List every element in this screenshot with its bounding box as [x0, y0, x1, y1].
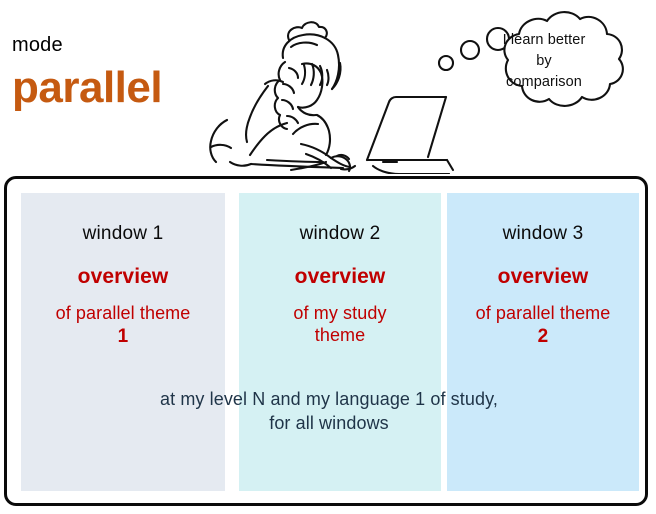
windows-container: window 1 overview of parallel theme 1 wi… — [4, 176, 648, 506]
thought-bubble-line-3: comparison — [436, 72, 652, 93]
window-panel-3[interactable]: window 3 overview of parallel theme 2 — [447, 193, 639, 491]
window-3-overview-subtitle: of parallel theme 2 — [447, 303, 639, 348]
thought-bubble-line-1: I learn better — [436, 30, 652, 51]
window-2-label: window 2 — [239, 223, 441, 245]
window-2-subtitle-text: of my study — [293, 303, 386, 323]
window-2-subtitle-text-2: theme — [239, 325, 441, 347]
window-1-label: window 1 — [21, 223, 225, 245]
window-panel-2[interactable]: window 2 overview of my study theme — [239, 193, 441, 491]
mode-label: mode — [12, 34, 63, 57]
window-2-overview-subtitle: of my study theme — [239, 303, 441, 347]
window-1-theme-number: 1 — [21, 325, 225, 348]
window-3-overview-title: overview — [447, 265, 639, 289]
window-panel-1[interactable]: window 1 overview of parallel theme 1 — [21, 193, 225, 491]
window-3-subtitle-text: of parallel theme — [476, 303, 611, 323]
mode-title: parallel — [12, 66, 162, 110]
person-studying-at-laptop-illustration — [205, 2, 455, 174]
window-1-subtitle-text: of parallel theme — [56, 303, 191, 323]
window-3-theme-number: 2 — [447, 325, 639, 348]
header: mode parallel — [0, 0, 656, 172]
window-1-overview-subtitle: of parallel theme 1 — [21, 303, 225, 348]
window-3-label: window 3 — [447, 223, 639, 245]
thought-bubble-line-2: by — [436, 51, 652, 72]
thought-bubble-text: I learn better by comparison — [436, 30, 652, 93]
window-1-overview-title: overview — [21, 265, 225, 289]
window-2-overview-title: overview — [239, 265, 441, 289]
